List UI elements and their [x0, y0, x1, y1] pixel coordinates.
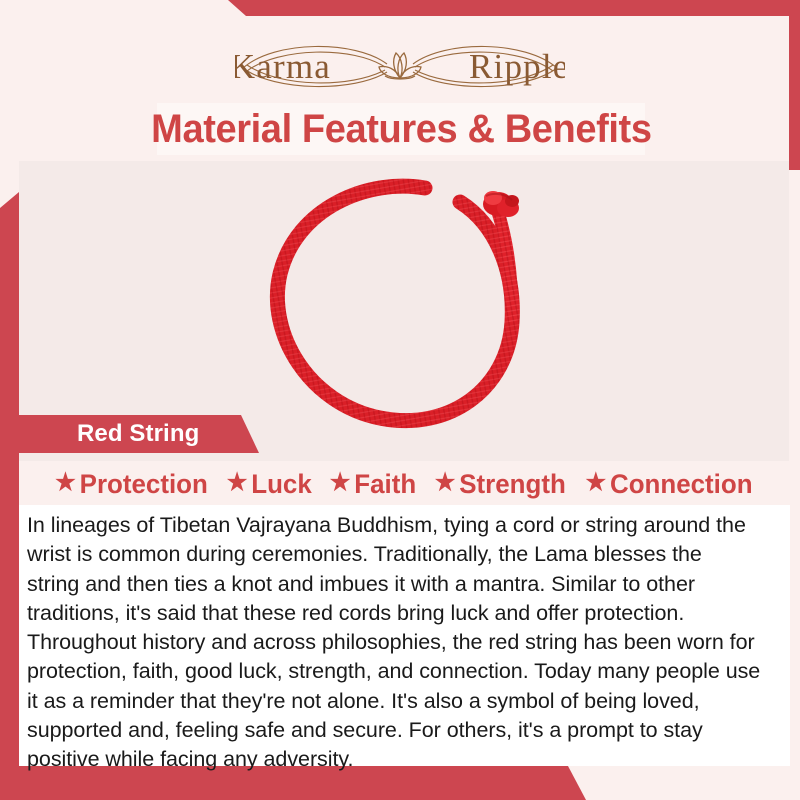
material-name-banner: Red String — [19, 415, 259, 453]
description-line: In lineages of Tibetan Vajrayana Buddhis… — [27, 511, 782, 540]
brand-name-right: Ripple — [469, 47, 565, 86]
features-list: ★ Protection ★ Luck ★ Faith ★ Strength ★… — [19, 466, 789, 502]
feature-luck: ★ Luck — [220, 469, 318, 500]
brand-name-left: Karma — [235, 47, 331, 86]
description-line: protection, faith, good luck, strength, … — [27, 657, 782, 686]
star-icon: ★ — [329, 471, 350, 495]
red-string-bracelet-image — [250, 166, 558, 456]
brand-logo: Karma Ripple — [0, 34, 800, 96]
feature-label: Faith — [354, 469, 416, 500]
star-icon: ★ — [434, 471, 455, 495]
feature-label: Connection — [610, 469, 753, 500]
feature-label: Protection — [80, 469, 208, 500]
infographic-page: Karma Ripple Material Features & Benefit… — [0, 0, 800, 800]
description-text: In lineages of Tibetan Vajrayana Buddhis… — [27, 511, 782, 775]
lotus-flourish-icon: Karma Ripple — [235, 34, 565, 96]
material-name-label: Red String — [77, 420, 199, 448]
feature-label: Luck — [251, 469, 312, 500]
feature-protection: ★ Protection — [48, 469, 214, 500]
feature-strength: ★ Strength — [428, 469, 572, 500]
description-line: positive while facing any adversity. — [27, 745, 782, 774]
description-line: Throughout history and across philosophi… — [27, 628, 782, 657]
star-icon: ★ — [586, 471, 607, 495]
star-icon: ★ — [55, 471, 76, 495]
feature-faith: ★ Faith — [323, 469, 423, 500]
decorative-left-edge-bar — [0, 192, 19, 800]
description-line: traditions, it's said that these red cor… — [27, 599, 782, 628]
star-icon: ★ — [227, 471, 248, 495]
feature-connection: ★ Connection — [579, 469, 759, 500]
description-line: it as a reminder that they're not alone.… — [27, 687, 782, 716]
description-line: wrist is common during ceremonies. Tradi… — [27, 540, 782, 569]
title-band: Material Features & Benefits — [157, 103, 645, 155]
description-panel: In lineages of Tibetan Vajrayana Buddhis… — [19, 505, 790, 766]
description-line: supported and, feeling safe and secure. … — [27, 716, 782, 745]
feature-label: Strength — [459, 469, 566, 500]
page-title: Material Features & Benefits — [151, 107, 651, 152]
description-line: string and then ties a knot and imbues i… — [27, 570, 782, 599]
